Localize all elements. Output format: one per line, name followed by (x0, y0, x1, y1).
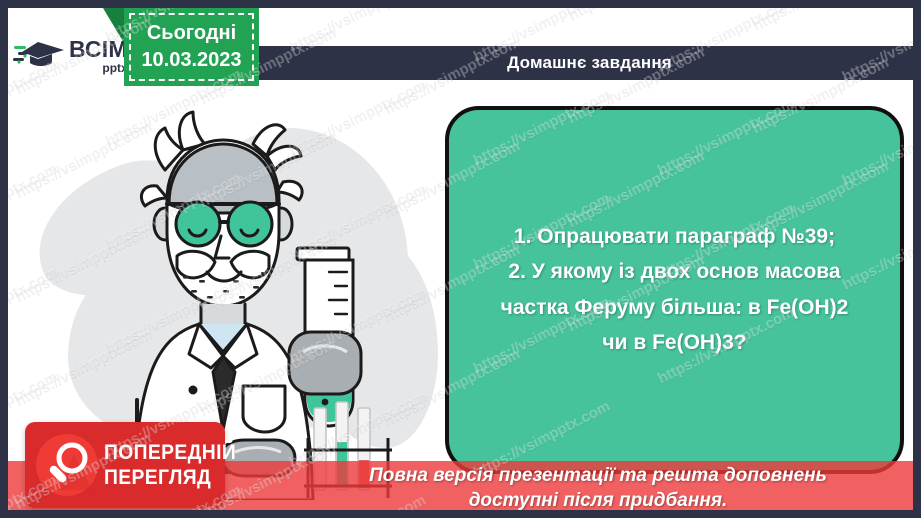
magnifier-icon (34, 432, 100, 498)
logo-sub-text: pptx (69, 62, 128, 74)
logo-main-text: ВСІМ (69, 38, 128, 61)
date-badge-label: Сьогодні (147, 20, 236, 47)
preview-badge-line2: ПЕРЕГЛЯД (104, 467, 236, 488)
date-badge-date: 10.03.2023 (141, 47, 241, 74)
date-badge: Сьогодні 10.03.2023 (124, 8, 259, 86)
footer-line: доступні після придбання. (288, 488, 908, 510)
footer-line: Повна версія презентації та решта доповн… (288, 463, 908, 488)
homework-card: 1. Опрацювати параграф №39; 2. У якому і… (445, 106, 904, 474)
page-title: Домашнє завдання (507, 53, 672, 73)
homework-line: 2. У якому із двох основ масова (463, 258, 886, 286)
preview-badge-line1: ПОПЕРЕДНІЙ (104, 442, 236, 463)
homework-line: 1. Опрацювати параграф №39; (463, 223, 886, 251)
slide-canvas: ВСІМ pptx Сьогодні 10.03.2023 Домашнє за… (8, 8, 913, 510)
homework-text: 1. Опрацювати параграф №39; 2. У якому і… (449, 223, 900, 357)
footer-band-text: Повна версія презентації та решта доповн… (288, 463, 908, 510)
homework-line: чи в Fe(OH)3? (463, 329, 886, 357)
preview-badge[interactable]: ПОПЕРЕДНІЙ ПЕРЕГЛЯД (25, 422, 225, 508)
homework-line: частка Феруму більша: в Fe(OH)2 (463, 294, 886, 322)
brand-logo: ВСІМ pptx (12, 30, 140, 82)
header-bar: Домашнє завдання (258, 46, 913, 80)
graduation-cap-icon (12, 36, 68, 76)
slide: ВСІМ pptx Сьогодні 10.03.2023 Домашнє за… (0, 0, 921, 518)
